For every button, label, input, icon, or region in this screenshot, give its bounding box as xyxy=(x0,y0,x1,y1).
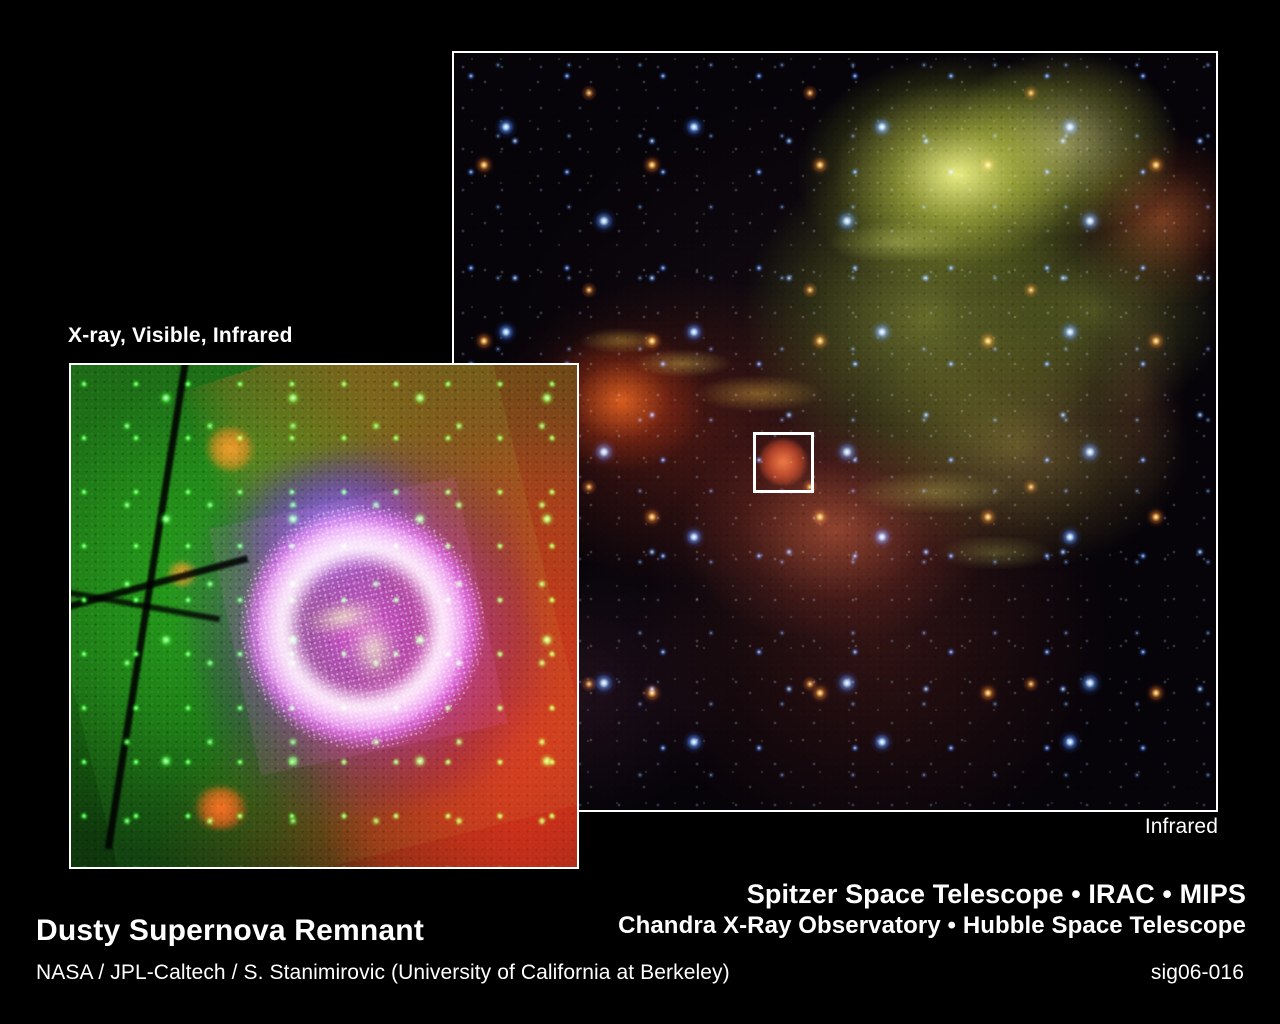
supernova-remnant-callout-box xyxy=(753,432,814,493)
main-image-label: Infrared xyxy=(1145,815,1218,839)
caption-image-id: sig06-016 xyxy=(1151,961,1244,985)
caption-instruments-line-2: Chandra X-Ray Observatory • Hubble Space… xyxy=(618,913,1246,940)
inset-composite-image xyxy=(69,363,579,869)
caption-instruments-line-1: Spitzer Space Telescope • IRAC • MIPS xyxy=(618,879,1246,909)
caption-credit: NASA / JPL-Caltech / S. Stanimirovic (Un… xyxy=(36,961,730,985)
inset-sky-field xyxy=(71,365,577,867)
caption-title: Dusty Supernova Remnant xyxy=(36,914,424,948)
caption-instruments: Spitzer Space Telescope • IRAC • MIPS Ch… xyxy=(618,879,1246,940)
inset-image-label: X-ray, Visible, Infrared xyxy=(68,324,293,348)
image-canvas: Infrared X-ray, Visible, Infrared xyxy=(0,0,1280,1024)
inset-grain-layer xyxy=(71,365,577,867)
